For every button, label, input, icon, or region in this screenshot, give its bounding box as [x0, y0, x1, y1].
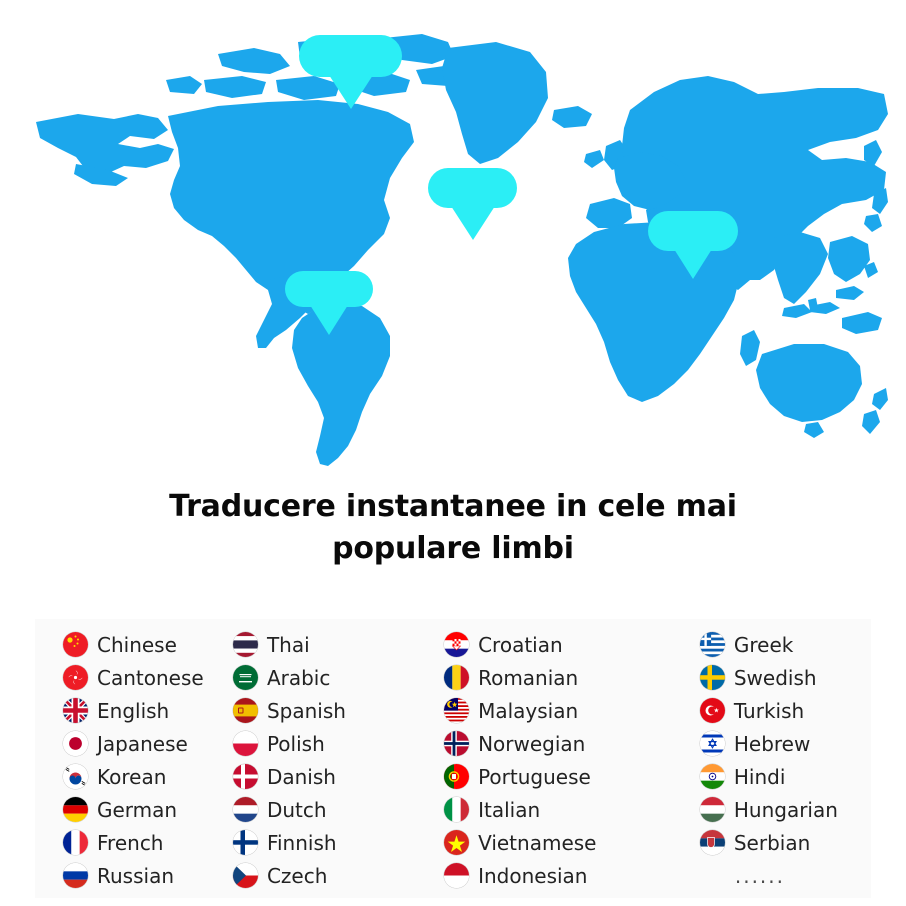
language-label: German: [97, 798, 177, 822]
language-label: Hungarian: [734, 798, 838, 822]
language-label: Czech: [267, 864, 327, 888]
flag-romania-icon: [444, 665, 469, 690]
language-label: Japanese: [97, 732, 188, 756]
speech-bubble-asia[interactable]: [648, 211, 738, 251]
language-label: Chinese: [97, 633, 177, 657]
language-list-item[interactable]: English: [63, 694, 208, 727]
language-column-2: ThaiArabicSpanishPolishDanishDutchFinnis…: [208, 628, 418, 898]
flag-finland-icon: [233, 830, 258, 855]
language-list-item[interactable]: Chinese: [63, 628, 208, 661]
flag-uk-icon: [63, 698, 88, 723]
flag-sweden-icon: [700, 665, 725, 690]
language-list-item[interactable]: German: [63, 793, 208, 826]
flag-vietnam-icon: [444, 830, 469, 855]
flag-india-icon: [700, 764, 725, 789]
flag-japan-icon: [63, 731, 88, 756]
flag-spain-icon: [233, 698, 258, 723]
flag-france-icon: [63, 830, 88, 855]
language-list-panel: ChineseCantoneseEnglishJapaneseKoreanGer…: [35, 619, 871, 898]
world-map-section: [0, 0, 906, 480]
flag-china-icon: [63, 632, 88, 657]
language-label: Romanian: [478, 666, 578, 690]
language-list-item[interactable]: Arabic: [233, 661, 418, 694]
language-list-item[interactable]: Serbian: [700, 826, 871, 859]
flag-southkorea-icon: [63, 764, 88, 789]
page-title-line-2: populare limbi: [0, 528, 906, 570]
world-map-icon: [18, 18, 888, 478]
speech-bubble-tail: [329, 75, 373, 109]
flag-turkey-icon: [700, 698, 725, 723]
language-list-item[interactable]: Dutch: [233, 793, 418, 826]
flag-norway-icon: [444, 731, 469, 756]
flag-israel-icon: [700, 731, 725, 756]
language-list-item[interactable]: Italian: [444, 793, 673, 826]
flag-hungary-icon: [700, 797, 725, 822]
speech-bubble-tail: [451, 206, 495, 240]
flag-denmark-icon: [233, 764, 258, 789]
language-list-item[interactable]: Spanish: [233, 694, 418, 727]
flag-poland-icon: [233, 731, 258, 756]
speech-bubble-body: [428, 168, 517, 208]
language-list-item[interactable]: Swedish: [700, 661, 871, 694]
language-label: Danish: [267, 765, 336, 789]
language-list-item[interactable]: Hebrew: [700, 727, 871, 760]
language-list-item[interactable]: Cantonese: [63, 661, 208, 694]
language-list-item[interactable]: Czech: [233, 859, 418, 892]
language-list-item[interactable]: Japanese: [63, 727, 208, 760]
flag-italy-icon: [444, 797, 469, 822]
language-list-item[interactable]: Romanian: [444, 661, 673, 694]
flag-indonesia-icon: [444, 863, 469, 888]
flag-saudiarabia-icon: [233, 665, 258, 690]
flag-croatia-icon: [444, 632, 469, 657]
language-label: Greek: [734, 633, 793, 657]
language-label: Korean: [97, 765, 166, 789]
language-list-item[interactable]: French: [63, 826, 208, 859]
language-list-item[interactable]: Turkish: [700, 694, 871, 727]
flag-portugal-icon: [444, 764, 469, 789]
speech-bubble-body: [285, 271, 373, 307]
language-list-item[interactable]: Hungarian: [700, 793, 871, 826]
language-label: Hebrew: [734, 732, 810, 756]
language-label: Hindi: [734, 765, 786, 789]
language-list-item[interactable]: Polish: [233, 727, 418, 760]
speech-bubble-europe[interactable]: [428, 168, 517, 208]
language-list-item[interactable]: Croatian: [444, 628, 673, 661]
speech-bubble-north-america[interactable]: [299, 35, 402, 77]
language-label: Serbian: [734, 831, 810, 855]
flag-malaysia-icon: [444, 698, 469, 723]
language-label: Thai: [267, 633, 310, 657]
flag-hongkong-icon: [63, 665, 88, 690]
flag-germany-icon: [63, 797, 88, 822]
language-label: Norwegian: [478, 732, 585, 756]
language-label: Italian: [478, 798, 540, 822]
language-list-item[interactable]: Norwegian: [444, 727, 673, 760]
flag-netherlands-icon: [233, 797, 258, 822]
language-label: Finnish: [267, 831, 337, 855]
flag-thailand-icon: [233, 632, 258, 657]
language-list-item[interactable]: Russian: [63, 859, 208, 892]
speech-bubble-tail: [310, 305, 348, 335]
language-label: Turkish: [734, 699, 804, 723]
language-label: Swedish: [734, 666, 817, 690]
language-label: Vietnamese: [478, 831, 596, 855]
language-label: ......: [735, 864, 785, 888]
language-list-item[interactable]: Vietnamese: [444, 826, 673, 859]
language-list-ellipsis[interactable]: ......: [700, 859, 871, 892]
language-label: Indonesian: [478, 864, 587, 888]
language-label: Portuguese: [478, 765, 591, 789]
language-list-item[interactable]: Thai: [233, 628, 418, 661]
language-label: Croatian: [478, 633, 563, 657]
language-list-item[interactable]: Portuguese: [444, 760, 673, 793]
language-column-3: CroatianRomanianMalaysianNorwegianPortug…: [418, 628, 673, 898]
language-label: English: [97, 699, 169, 723]
speech-bubble-body: [299, 35, 402, 77]
language-label: Polish: [267, 732, 325, 756]
language-list-item[interactable]: Greek: [700, 628, 871, 661]
language-list-item[interactable]: Malaysian: [444, 694, 673, 727]
language-column-4: GreekSwedishTurkishHebrewHindiHungarianS…: [673, 628, 871, 898]
speech-bubble-body: [648, 211, 738, 251]
language-list-item[interactable]: Korean: [63, 760, 208, 793]
language-label: Malaysian: [478, 699, 578, 723]
speech-bubble-south-america[interactable]: [285, 271, 373, 307]
language-label: French: [97, 831, 163, 855]
language-label: Arabic: [267, 666, 330, 690]
flag-czechia-icon: [233, 863, 258, 888]
page-title: Traducere instantanee in cele mai popula…: [0, 486, 906, 570]
language-list-item[interactable]: Finnish: [233, 826, 418, 859]
language-column-1: ChineseCantoneseEnglishJapaneseKoreanGer…: [35, 628, 208, 898]
language-list-item[interactable]: Indonesian: [444, 859, 673, 892]
speech-bubble-tail: [674, 249, 712, 279]
flag-greece-icon: [700, 632, 725, 657]
language-label: Dutch: [267, 798, 327, 822]
language-list-item[interactable]: Hindi: [700, 760, 871, 793]
language-list-item[interactable]: Danish: [233, 760, 418, 793]
language-label: Cantonese: [97, 666, 204, 690]
language-label: Spanish: [267, 699, 346, 723]
language-label: Russian: [97, 864, 174, 888]
flag-serbia-icon: [700, 830, 725, 855]
page-title-line-1: Traducere instantanee in cele mai: [0, 486, 906, 528]
flag-russia-icon: [63, 863, 88, 888]
